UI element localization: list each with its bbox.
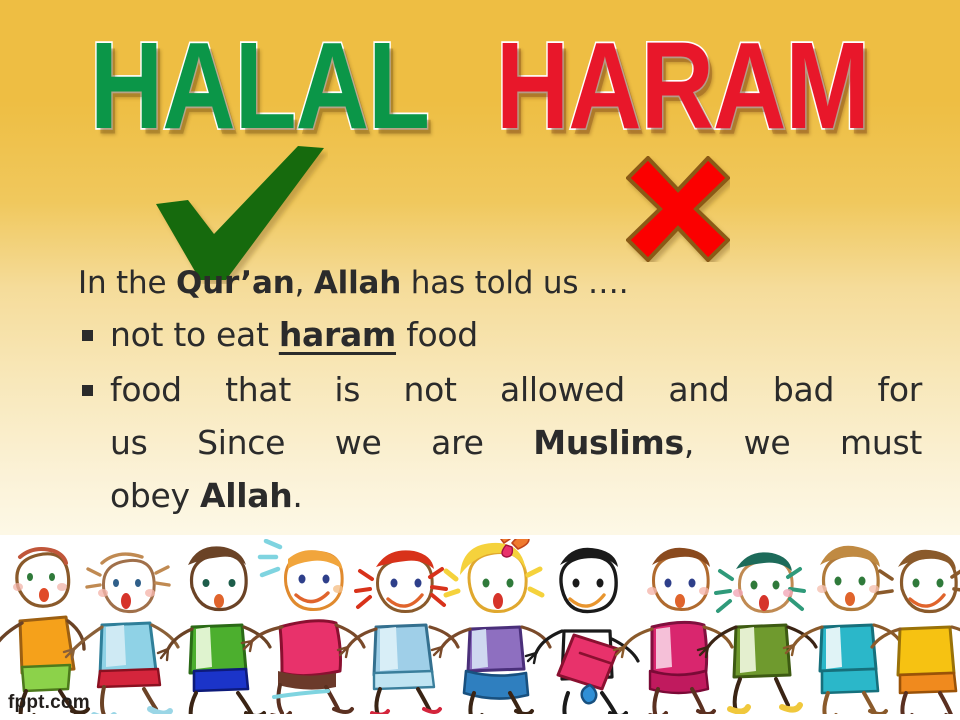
bullet-2-line-3: obey Allah. <box>110 469 922 522</box>
title-row: HALAL HARAM <box>0 22 960 142</box>
slide-canvas: HALAL HARAM In the Qur’an, A <box>0 0 960 720</box>
bullet-2-emph-muslims: Muslims <box>533 423 684 462</box>
bullet-2-line-3-part-2: . <box>292 476 302 515</box>
lead-part-3: has told us …. <box>401 265 628 301</box>
bullet-1-part-2: food <box>396 315 478 354</box>
lead-quran: Qur’an <box>176 265 295 301</box>
body-text-block: In the Qur’an, Allah has told us …. not … <box>70 262 922 524</box>
lead-part-1: In the <box>78 265 176 301</box>
bullet-2-line-2-part-1: us Since we are <box>110 423 533 462</box>
bullet-list: not to eat haram food food that is not a… <box>70 308 922 522</box>
bullet-2-emph-allah: Allah <box>200 476 292 515</box>
list-item: not to eat haram food <box>70 308 922 361</box>
square-bullet-icon <box>82 385 93 396</box>
lead-sentence: In the Qur’an, Allah has told us …. <box>70 262 922 304</box>
square-bullet-icon <box>82 330 93 341</box>
bullet-2-line-2-part-2: , we must <box>684 423 922 462</box>
bullet-1-part-1: not to eat <box>110 315 279 354</box>
bullet-2-line-1: food that is not allowed and bad for <box>110 363 922 416</box>
lead-part-2: , <box>295 265 314 301</box>
kids-clipart-icon <box>0 539 960 714</box>
watermark-fppt: fppt.com <box>8 692 90 714</box>
cross-mark-icon <box>626 156 730 262</box>
bullet-1-emph-haram: haram <box>279 315 396 354</box>
bullet-2-line-2: us Since we are Muslims, we must <box>110 416 922 469</box>
list-item: food that is not allowed and bad for us … <box>70 363 922 522</box>
lead-allah: Allah <box>314 265 401 301</box>
kids-clipart-band: fppt.com <box>0 535 960 720</box>
title-halal: HALAL <box>90 22 429 150</box>
bullet-2-line-3-part-1: obey <box>110 476 200 515</box>
title-haram: HARAM <box>496 22 869 150</box>
